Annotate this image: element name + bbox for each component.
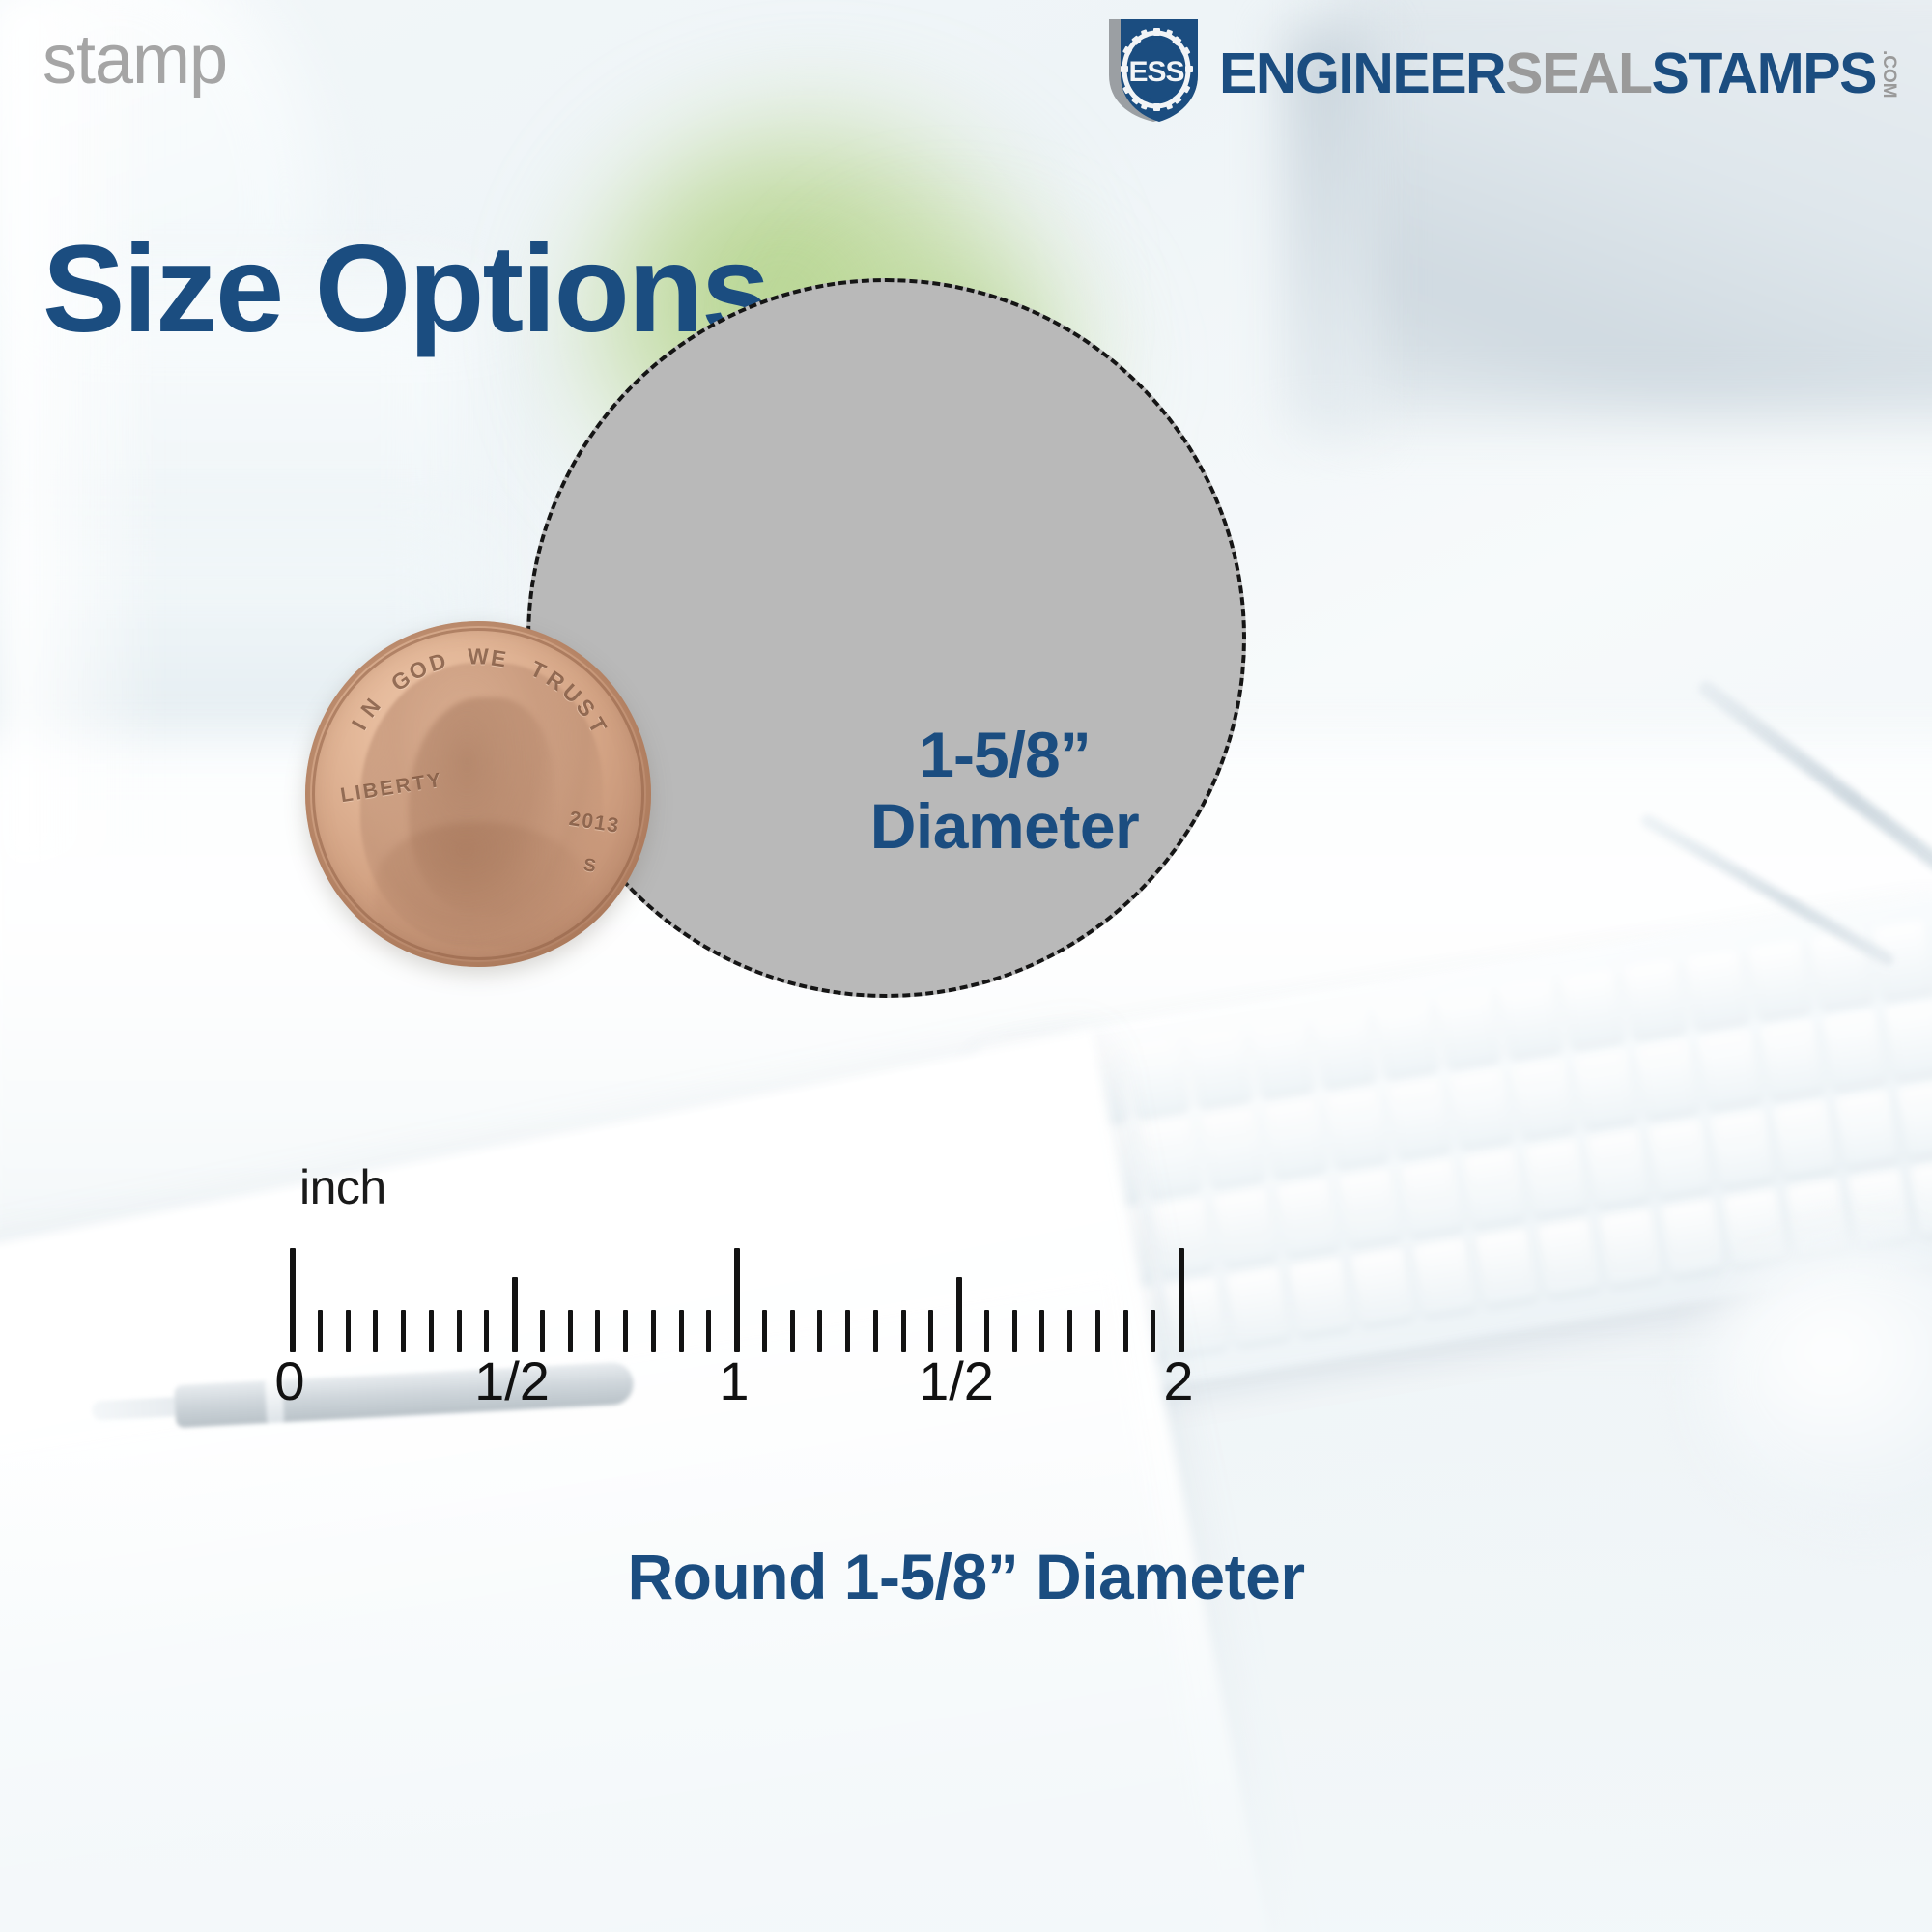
logo-word-seal: SEAL [1505,45,1651,102]
ruler-tick [762,1310,767,1352]
ruler-tick-label: 1/2 [919,1354,994,1408]
ruler-tick [679,1310,684,1352]
ruler-scale [290,1246,1507,1352]
ruler-tick [595,1310,600,1352]
ruler-tick-label: 0 [274,1354,304,1408]
ruler-tick [706,1310,711,1352]
ruler-unit-label: inch [299,1159,386,1215]
background-bottom-fade [0,1430,1932,1932]
ruler-tick [1067,1310,1072,1352]
eyebrow-label: stamp [43,25,227,95]
ruler-tick [429,1310,434,1352]
size-label-dimension: 1-5/8” [734,720,1275,791]
ruler-tick [734,1248,740,1352]
ruler-tick [928,1310,933,1352]
ruler-tick [346,1310,351,1352]
ruler-tick [1095,1310,1100,1352]
ruler-tick [568,1310,573,1352]
size-options-infographic: stamp Size Options [0,0,1932,1932]
ruler-tick [817,1310,822,1352]
ruler-tick [401,1310,406,1352]
ruler-tick [1123,1310,1128,1352]
ruler-tick [512,1277,518,1352]
ruler-tick [318,1310,323,1352]
svg-text:ESS: ESS [1128,56,1183,88]
ruler-tick [373,1310,378,1352]
bottom-caption: Round 1-5/8” Diameter [0,1540,1932,1613]
ruler-tick [873,1310,878,1352]
ruler-tick [1012,1310,1017,1352]
ruler-tick [290,1248,296,1352]
logo-word-tld: .COM [1880,50,1898,99]
size-preview-label: 1-5/8” Diameter [734,720,1275,863]
ruler-tick [790,1310,795,1352]
ruler-tick [1179,1248,1184,1352]
ess-seal-icon: ESS [1101,15,1206,124]
brand-wordmark: ENGINEERSEALSTAMPS.COM [1219,37,1898,102]
ruler-tick-label: 2 [1163,1354,1193,1408]
ruler-tick [901,1310,906,1352]
ruler-tick [984,1310,989,1352]
size-label-term: Diameter [734,791,1275,863]
ruler-tick [651,1310,656,1352]
ruler-tick [845,1310,850,1352]
page-title: Size Options [43,228,768,352]
ruler-tick [623,1310,628,1352]
ruler-tick [1039,1310,1044,1352]
ruler-tick [540,1310,545,1352]
ruler-tick-label: 1 [719,1354,749,1408]
brand-logo[interactable]: ESS ENGINEERSEALSTAMPS.COM [1101,17,1898,122]
ruler-tick [484,1310,489,1352]
logo-word-stamps: STAMPS [1652,45,1876,102]
penny-reference-coin: IN GOD WE TRUST LIBERTY 2013 S [305,621,651,967]
ruler-tick [1151,1310,1155,1352]
ruler-tick [457,1310,462,1352]
background-left-glare [0,0,164,869]
ruler-tick-label: 1/2 [474,1354,550,1408]
logo-word-engineer: ENGINEER [1219,45,1505,102]
ruler-tick [956,1277,962,1352]
